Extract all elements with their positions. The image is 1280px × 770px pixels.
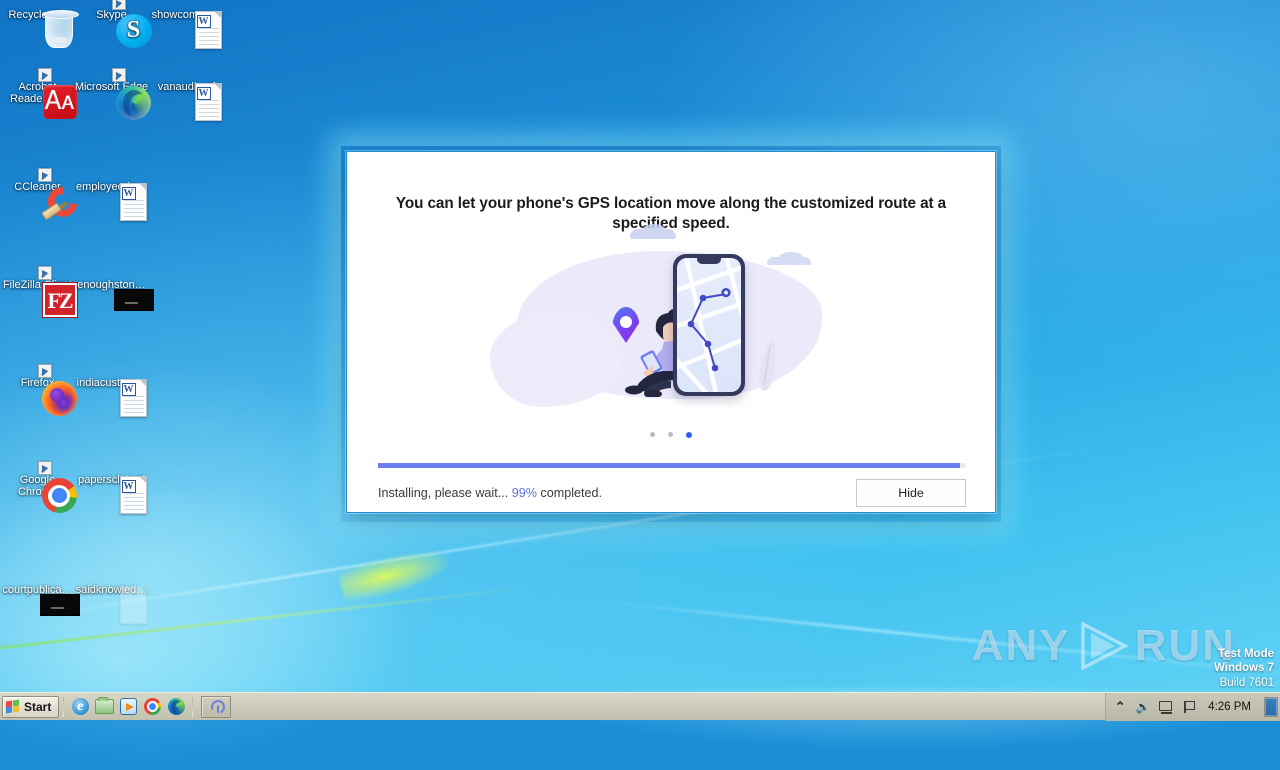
google-chrome-icon[interactable] bbox=[140, 696, 164, 718]
status-percent: 99% bbox=[512, 486, 537, 500]
progress-bar-track bbox=[378, 463, 966, 468]
carousel-dots[interactable] bbox=[347, 426, 995, 444]
shortcut-overlay-icon bbox=[38, 168, 52, 182]
wallpaper-leaf-flare bbox=[337, 543, 452, 605]
desktop-icon-papersclub-rtf[interactable]: Wpapersclub.rtf bbox=[74, 475, 149, 487]
wallpaper-light-streak-2 bbox=[602, 600, 1280, 682]
taskbar: Start 4:26 PM bbox=[0, 692, 1280, 720]
install-status-text: Installing, please wait... 99% completed… bbox=[378, 486, 602, 500]
system-tray: 4:26 PM bbox=[1105, 693, 1280, 721]
shortcut-overlay-icon bbox=[112, 68, 126, 82]
media-player-icon[interactable] bbox=[116, 696, 140, 718]
desktop-icon-filezilla-client[interactable]: FZFileZilla Client bbox=[0, 280, 75, 292]
start-button[interactable]: Start bbox=[2, 696, 59, 718]
carousel-dot-2[interactable] bbox=[668, 432, 673, 437]
phone-screen bbox=[677, 258, 741, 392]
desktop-icon-enoughston[interactable]: enoughston… bbox=[74, 280, 149, 292]
action-center-flag-icon[interactable] bbox=[1181, 699, 1197, 715]
desktop-icon-employeedo[interactable]: Wemployeedo… bbox=[74, 182, 149, 194]
swirl-icon bbox=[209, 699, 224, 714]
map-route-svg bbox=[677, 258, 741, 392]
desktop-icon-recycle-bin[interactable]: Recycle Bin bbox=[0, 10, 75, 22]
desktop-icon-indiacustom[interactable]: Windiacustom… bbox=[74, 378, 149, 390]
wallpaper-green-ribbon bbox=[0, 567, 698, 656]
show-desktop-button[interactable] bbox=[1264, 697, 1278, 717]
shortcut-overlay-icon bbox=[38, 266, 52, 280]
shortcut-overlay-icon bbox=[38, 68, 52, 82]
status-suffix: completed. bbox=[537, 486, 602, 500]
status-prefix: Installing, please wait... bbox=[378, 486, 512, 500]
cloud-icon-left bbox=[630, 229, 676, 239]
desktop-icon-showcompa[interactable]: Wshowcompa… bbox=[149, 10, 224, 22]
carousel-dot-1[interactable] bbox=[650, 432, 655, 437]
gps-route-illustration bbox=[347, 239, 996, 424]
carousel-dot-3[interactable] bbox=[686, 432, 692, 438]
microsoft-edge-icon[interactable] bbox=[164, 696, 188, 718]
desktop-icon-google-chrome[interactable]: Google Chrome bbox=[0, 475, 75, 498]
internet-explorer-icon[interactable] bbox=[68, 696, 92, 718]
windows-logo-icon bbox=[6, 700, 21, 714]
desktop-icon-skype[interactable]: SSkype bbox=[74, 10, 149, 22]
shortcut-overlay-icon bbox=[112, 0, 126, 10]
desktop-icon-acrobat-reader-dc[interactable]: 🗛Acrobat Reader DC bbox=[0, 82, 75, 105]
desktop-icon-vanaudio-rtf[interactable]: Wvanaudio.rtf bbox=[149, 82, 224, 94]
installer-window-button[interactable] bbox=[201, 696, 231, 718]
status-row: Installing, please wait... 99% completed… bbox=[378, 478, 966, 508]
phone-notch bbox=[697, 258, 721, 264]
shortcut-overlay-icon bbox=[38, 364, 52, 378]
hide-button[interactable]: Hide bbox=[856, 479, 966, 507]
cloud-icon-right bbox=[767, 257, 811, 265]
shortcut-overlay-icon bbox=[38, 461, 52, 475]
smartphone-with-map-route bbox=[673, 254, 745, 396]
show-hidden-icons-chevron-icon[interactable] bbox=[1112, 699, 1128, 715]
clock[interactable]: 4:26 PM bbox=[1204, 701, 1255, 713]
desktop-icon-courtpublica[interactable]: courtpublica… bbox=[0, 585, 75, 597]
desktop-icon-saidknowled[interactable]: saidknowled… bbox=[74, 585, 149, 597]
windows-explorer-icon[interactable] bbox=[92, 696, 116, 718]
desktop-icon-microsoft-edge[interactable]: Microsoft Edge bbox=[74, 82, 149, 94]
network-icon[interactable] bbox=[1158, 699, 1174, 715]
volume-icon[interactable] bbox=[1135, 699, 1151, 715]
start-label: Start bbox=[24, 700, 51, 714]
illustration-blob-secondary bbox=[490, 311, 620, 407]
installer-dialog: You can let your phone's GPS location mo… bbox=[346, 151, 996, 513]
progress-bar-fill bbox=[378, 463, 960, 468]
taskbar-separator-1 bbox=[63, 697, 64, 717]
desktop-icon-ccleaner[interactable]: CCleaner bbox=[0, 182, 75, 194]
desktop-icon-firefox[interactable]: Firefox bbox=[0, 378, 75, 390]
taskbar-separator-2 bbox=[192, 697, 193, 717]
dialog-headline: You can let your phone's GPS location mo… bbox=[383, 194, 959, 233]
